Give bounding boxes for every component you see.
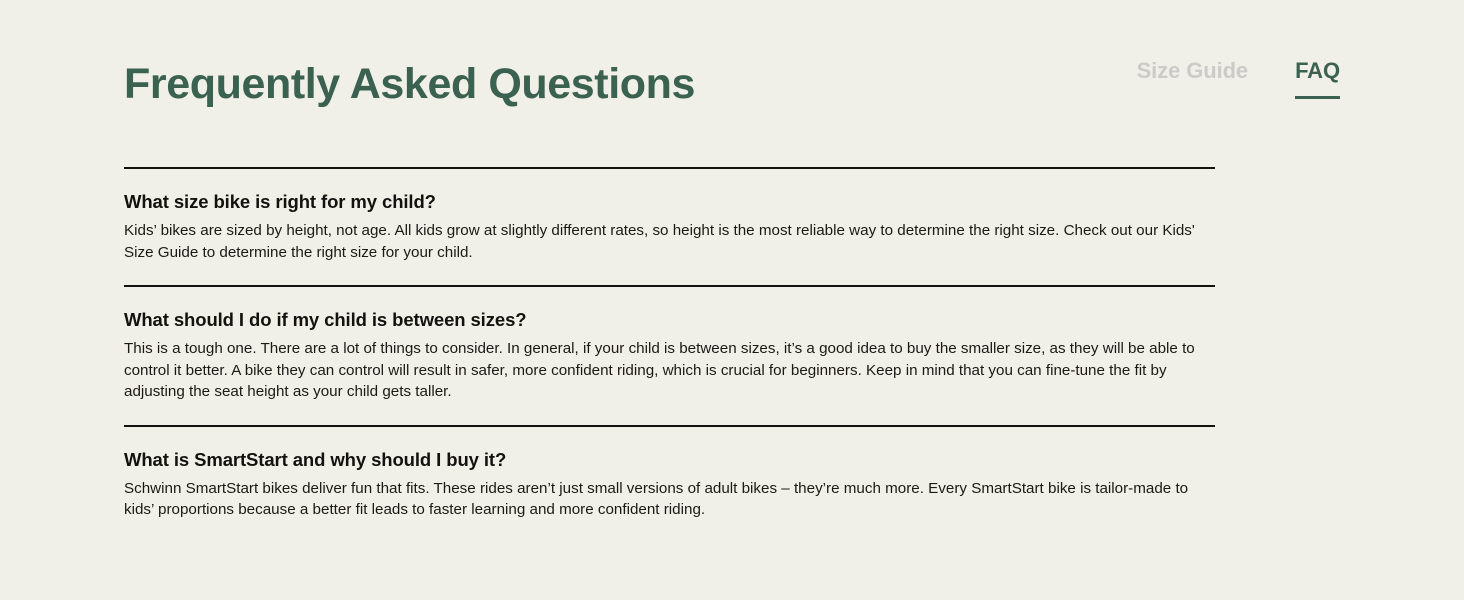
tab-faq[interactable]: FAQ xyxy=(1295,56,1340,99)
faq-question: What is SmartStart and why should I buy … xyxy=(124,449,1215,471)
tab-nav: Size Guide FAQ xyxy=(1137,56,1340,99)
faq-page: Frequently Asked Questions Size Guide FA… xyxy=(0,0,1464,600)
faq-item[interactable]: What size bike is right for my child? Ki… xyxy=(124,167,1215,273)
page-header: Frequently Asked Questions Size Guide FA… xyxy=(124,48,1340,120)
faq-answer: Kids’ bikes are sized by height, not age… xyxy=(124,220,1199,263)
faq-question: What should I do if my child is between … xyxy=(124,309,1215,331)
faq-list: What size bike is right for my child? Ki… xyxy=(124,167,1215,531)
faq-item[interactable]: What should I do if my child is between … xyxy=(124,285,1215,413)
faq-question: What size bike is right for my child? xyxy=(124,191,1215,213)
faq-answer: Schwinn SmartStart bikes deliver fun tha… xyxy=(124,478,1199,521)
page-title: Frequently Asked Questions xyxy=(124,48,695,120)
faq-answer: This is a tough one. There are a lot of … xyxy=(124,338,1199,403)
faq-item[interactable]: What is SmartStart and why should I buy … xyxy=(124,425,1215,531)
tab-size-guide[interactable]: Size Guide xyxy=(1137,56,1248,99)
